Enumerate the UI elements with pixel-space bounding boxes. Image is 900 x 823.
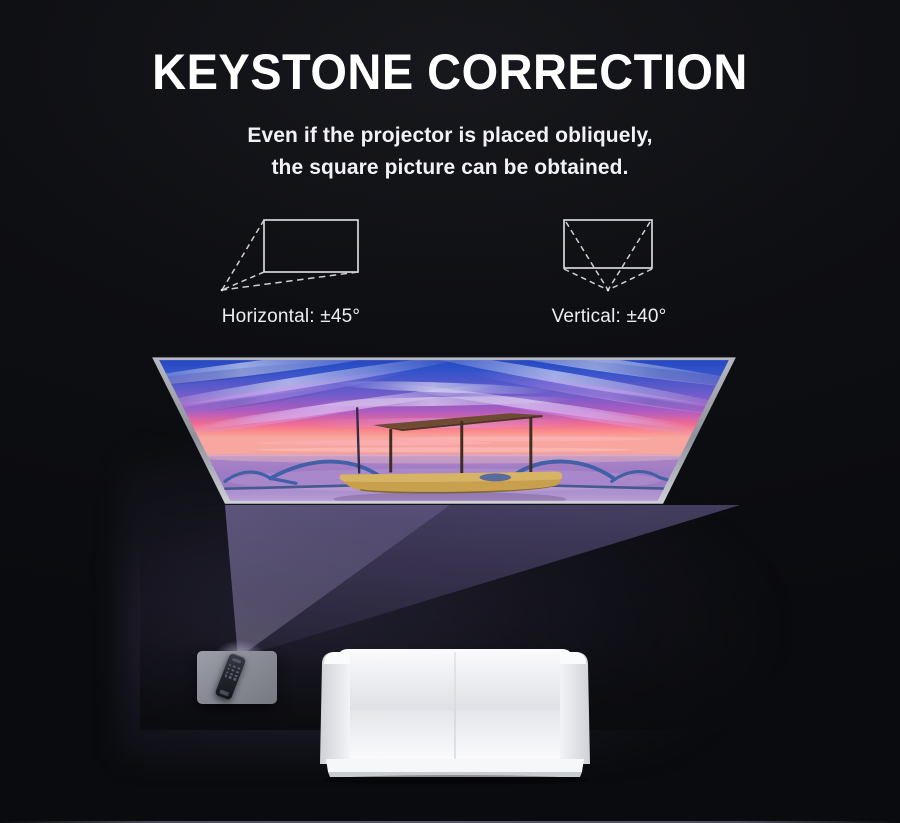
keystone-correction-slide: KEYSTONE CORRECTION Even if the projecto… bbox=[0, 0, 900, 823]
sofa-shape bbox=[316, 644, 594, 784]
sunset-boat-photo bbox=[148, 352, 740, 506]
remote-bottom-label bbox=[219, 689, 229, 695]
white-sofa bbox=[316, 644, 594, 784]
screen-image-sunset-boat bbox=[148, 352, 740, 506]
projection-screen bbox=[148, 352, 740, 506]
remote-button-grid bbox=[224, 664, 240, 681]
remote-top-label bbox=[232, 657, 242, 663]
